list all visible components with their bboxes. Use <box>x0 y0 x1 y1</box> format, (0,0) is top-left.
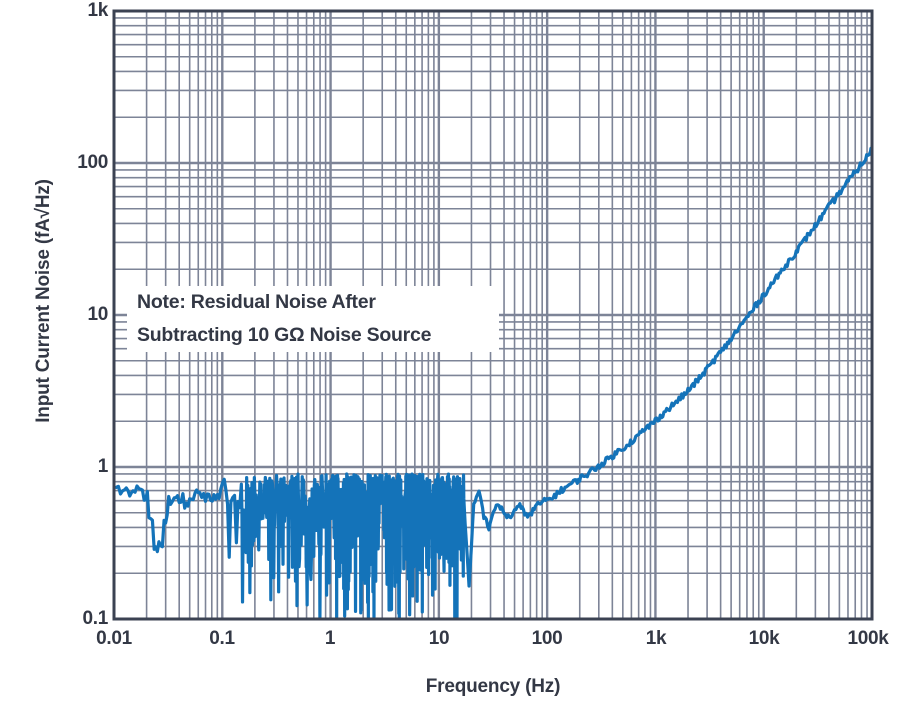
note-annotation: Note: Residual Noise After Subtracting 1… <box>127 286 499 352</box>
chart-root: Input Current Noise (fA√Hz) 1k 100 10 1 … <box>0 0 901 714</box>
plot-area <box>0 0 901 714</box>
note-line-2: Subtracting 10 GΩ Noise Source <box>127 319 499 352</box>
note-line-1: Note: Residual Noise After <box>127 286 499 319</box>
